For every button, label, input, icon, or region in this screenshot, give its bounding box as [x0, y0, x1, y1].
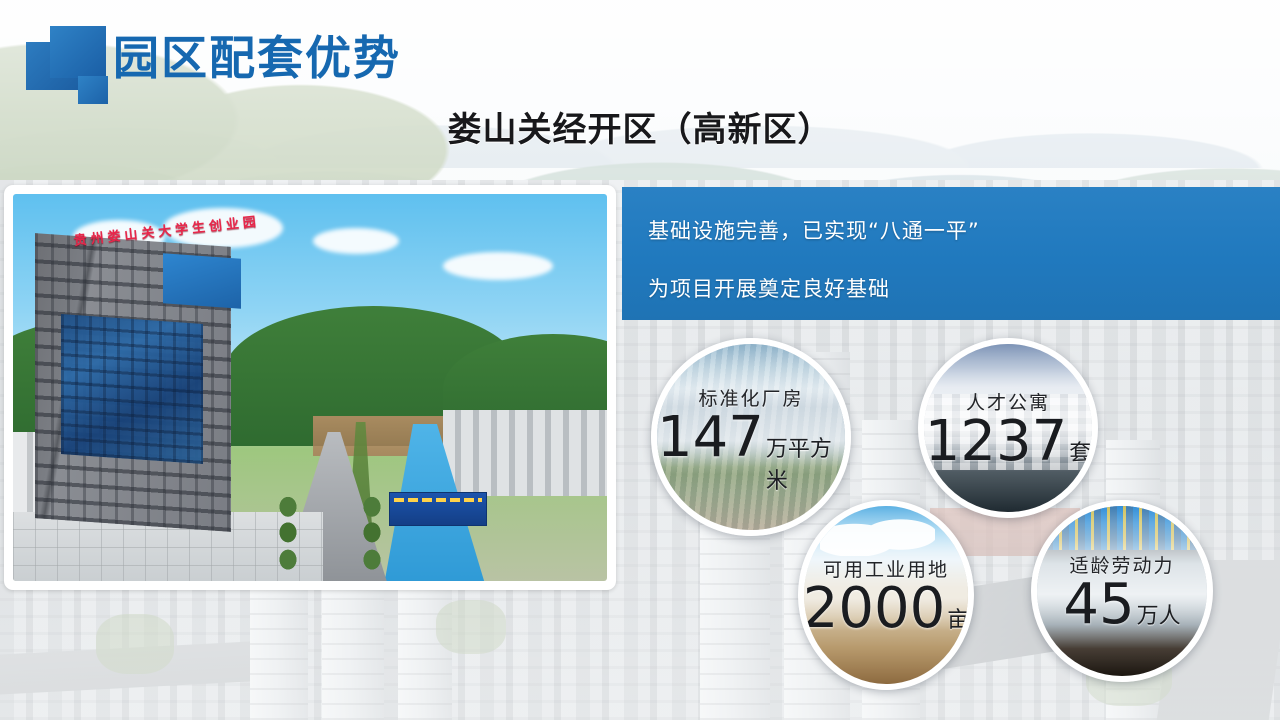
- highlight-text-panel: 基础设施完善，已实现“八通一平” 为项目开展奠定良好基础: [622, 187, 1280, 320]
- stat-value: 2000: [803, 580, 946, 639]
- stat-text-block: 标准化厂房 147 万平方米: [657, 344, 845, 530]
- logo-square-small: [78, 76, 108, 104]
- stat-value: 45: [1063, 576, 1134, 635]
- park-photo-card: 贵州娄山关大学生创业园: [4, 185, 616, 590]
- photo-street-trees: [359, 494, 385, 574]
- header-title: 园区配套优势: [113, 22, 401, 88]
- logo-square-top: [50, 26, 106, 78]
- stat-value-row: 147 万平方米: [657, 409, 845, 495]
- stat-unit: 套: [1069, 435, 1091, 467]
- photo-building-glass-upper: [163, 253, 241, 308]
- slide-root: 园区配套优势 娄山关经开区（高新区） 贵州娄山关大学生创业园: [0, 0, 1280, 720]
- stat-circle-talent-apartments[interactable]: 人才公寓 1237 套: [918, 338, 1098, 518]
- stat-text-block: 人才公寓 1237 套: [924, 344, 1092, 512]
- stat-value: 147: [657, 409, 764, 468]
- photo-cloud: [443, 252, 553, 280]
- photo-billboard: [389, 492, 487, 526]
- stat-unit: 万人: [1137, 598, 1181, 630]
- highlight-line-1: 基础设施完善，已实现“八通一平”: [648, 215, 980, 245]
- stat-unit: 万平方米: [766, 431, 845, 495]
- stat-value-row: 1237 套: [925, 413, 1092, 472]
- brand-logo-icon: [18, 20, 110, 92]
- photo-street-trees: [275, 494, 301, 574]
- stat-value: 1237: [925, 413, 1068, 472]
- stat-circle-labor-force[interactable]: 适龄劳动力 45 万人: [1031, 500, 1213, 682]
- park-photo-image: 贵州娄山关大学生创业园: [13, 194, 607, 581]
- photo-cloud: [313, 228, 399, 254]
- stat-text-block: 适龄劳动力 45 万人: [1037, 506, 1207, 676]
- photo-building-glass-facade: [61, 314, 203, 464]
- stat-text-block: 可用工业用地 2000 亩: [804, 506, 968, 684]
- stat-value-row: 45 万人: [1063, 576, 1180, 635]
- stat-circle-industrial-land[interactable]: 可用工业用地 2000 亩: [798, 500, 974, 690]
- photo-right-buildings: [443, 410, 607, 496]
- stat-unit: 亩: [947, 602, 969, 634]
- highlight-line-2: 为项目开展奠定良好基础: [648, 273, 890, 303]
- page-title: 娄山关经开区（高新区）: [0, 102, 1280, 151]
- stat-value-row: 2000 亩: [803, 580, 970, 639]
